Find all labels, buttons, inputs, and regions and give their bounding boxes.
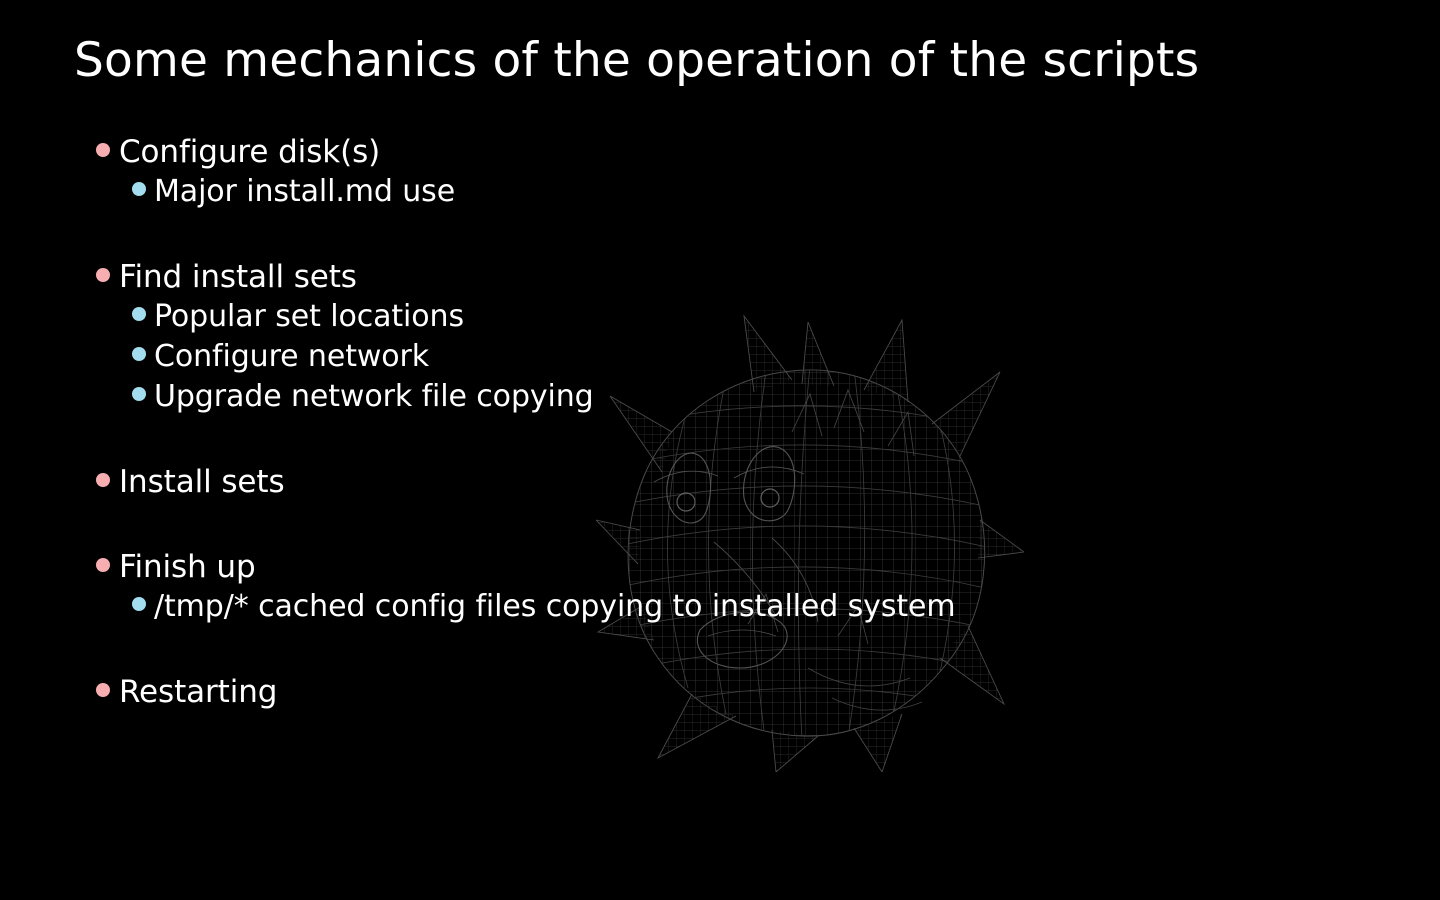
bullet-dot-icon: [96, 683, 110, 697]
list-item[interactable]: Popular set locations: [132, 297, 1376, 337]
list-item[interactable]: Configure network: [132, 337, 1376, 377]
list-item-label: Popular set locations: [154, 297, 464, 337]
bullet-list: Configure disk(s) Major install.md use F…: [96, 132, 1376, 712]
list-item-label: Install sets: [119, 462, 285, 502]
slide-canvas: Some mechanics of the operation of the s…: [0, 0, 1440, 900]
list-item-label: Upgrade network file copying: [154, 377, 594, 417]
list-item[interactable]: Major install.md use: [132, 172, 1376, 212]
bullet-dot-icon: [132, 182, 146, 196]
list-item-label: Configure network: [154, 337, 429, 377]
bullet-dot-icon: [96, 143, 110, 157]
bullet-dot-icon: [132, 387, 146, 401]
list-item[interactable]: Upgrade network file copying: [132, 377, 1376, 417]
list-item[interactable]: Install sets: [96, 462, 1376, 502]
bullet-dot-icon: [132, 347, 146, 361]
list-item[interactable]: /tmp/* cached config files copying to in…: [132, 587, 1376, 627]
list-item[interactable]: Configure disk(s): [96, 132, 1376, 172]
bullet-group: Find install sets Popular set locations …: [96, 257, 1376, 417]
list-item[interactable]: Find install sets: [96, 257, 1376, 297]
list-item[interactable]: Restarting: [96, 672, 1376, 712]
bullet-group: Restarting: [96, 672, 1376, 712]
bullet-dot-icon: [96, 268, 110, 282]
bullet-group: Install sets: [96, 462, 1376, 502]
list-item[interactable]: Finish up: [96, 547, 1376, 587]
list-item-label: Finish up: [119, 547, 256, 587]
page-title: Some mechanics of the operation of the s…: [74, 36, 1199, 85]
bullet-dot-icon: [132, 597, 146, 611]
list-item-label: Major install.md use: [154, 172, 455, 212]
list-item-label: Restarting: [119, 672, 277, 712]
list-item-label: Find install sets: [119, 257, 357, 297]
bullet-group: Finish up /tmp/* cached config files cop…: [96, 547, 1376, 627]
bullet-group: Configure disk(s) Major install.md use: [96, 132, 1376, 212]
bullet-dot-icon: [132, 307, 146, 321]
list-item-label: Configure disk(s): [119, 132, 380, 172]
bullet-dot-icon: [96, 473, 110, 487]
bullet-dot-icon: [96, 558, 110, 572]
list-item-label: /tmp/* cached config files copying to in…: [154, 587, 956, 627]
